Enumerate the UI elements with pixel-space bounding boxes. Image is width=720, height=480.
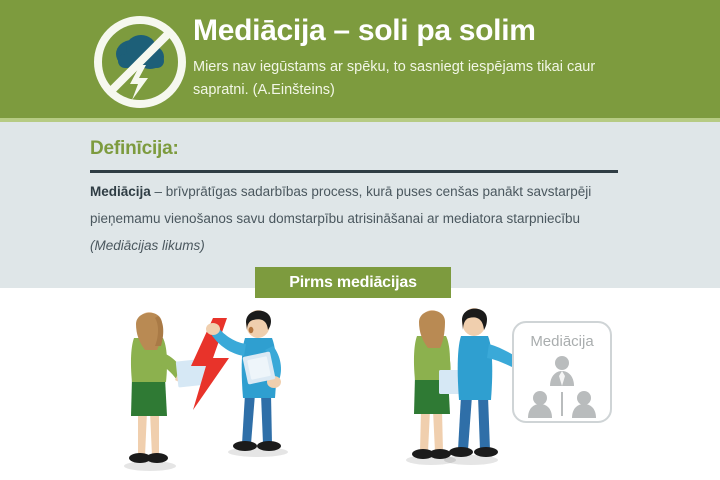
infographic-page: Mediācija – soli pa solim Miers nav iegū…	[0, 0, 720, 480]
conflict-scene	[105, 300, 320, 480]
header-text-block: Mediācija – soli pa solim Miers nav iegū…	[193, 12, 693, 102]
header-quote: Miers nav iegūstams ar spēku, to sasnieg…	[193, 56, 623, 102]
definition-text: – brīvprātīgas sadarbības process, kurā …	[90, 184, 591, 226]
page-title: Mediācija – soli pa solim	[193, 12, 693, 50]
man-pointing	[206, 310, 281, 451]
stage-badge-pirms-mediacijas: Pirms mediācijas	[255, 267, 451, 298]
definition-body: Mediācija – brīvprātīgas sadarbības proc…	[90, 178, 630, 259]
definition-heading: Definīcija:	[90, 138, 179, 160]
mediation-scene: Mediācija	[395, 300, 620, 480]
header-banner: Mediācija – soli pa solim Miers nav iegū…	[0, 0, 720, 118]
definition-panel: Definīcija: Mediācija – brīvprātīgas sad…	[0, 122, 720, 288]
woman-with-document	[129, 312, 191, 463]
mediation-card-label: Mediācija	[530, 333, 594, 350]
mediation-card: Mediācija	[513, 322, 611, 422]
definition-term: Mediācija	[90, 184, 151, 199]
no-storm-icon	[88, 10, 192, 114]
definition-source: (Mediācijas likums)	[90, 238, 205, 253]
definition-divider	[90, 170, 618, 173]
